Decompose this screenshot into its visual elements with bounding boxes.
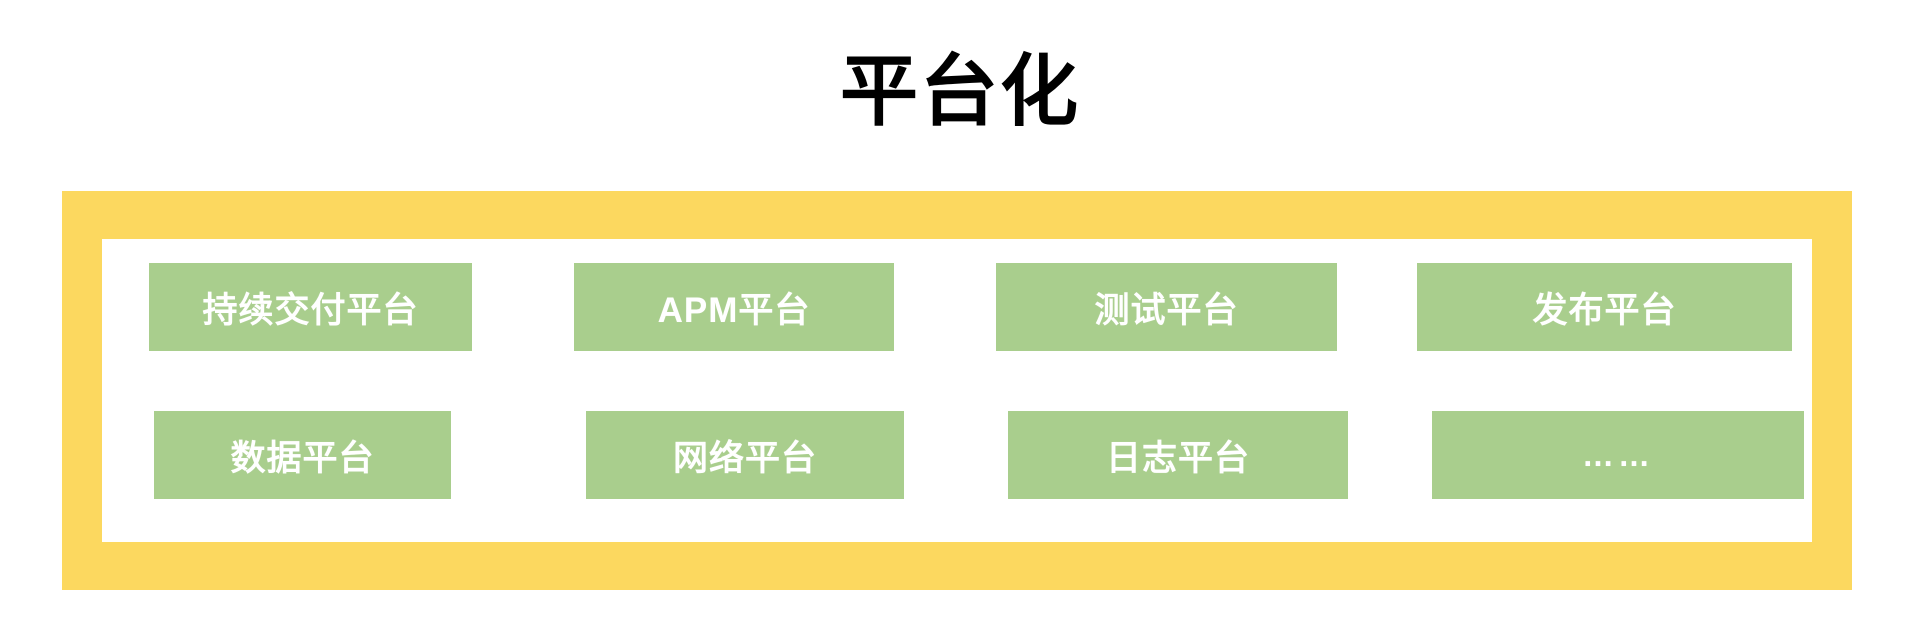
platform-row-1: 持续交付平台 APM平台 测试平台 发布平台 — [102, 263, 1812, 351]
slide-canvas: 平台化 持续交付平台 APM平台 测试平台 发布平台 数据平台 网络平台 日志平… — [0, 0, 1920, 643]
platform-box-testing[interactable]: 测试平台 — [996, 263, 1337, 351]
platform-box-network[interactable]: 网络平台 — [586, 411, 904, 499]
platform-box-apm[interactable]: APM平台 — [574, 263, 894, 351]
platform-box-logging[interactable]: 日志平台 — [1008, 411, 1348, 499]
platform-box-more[interactable]: …… — [1432, 411, 1804, 499]
platform-panel: 持续交付平台 APM平台 测试平台 发布平台 数据平台 网络平台 日志平台 …… — [102, 239, 1812, 542]
platform-row-2: 数据平台 网络平台 日志平台 …… — [102, 411, 1812, 499]
platform-frame: 持续交付平台 APM平台 测试平台 发布平台 数据平台 网络平台 日志平台 …… — [62, 191, 1852, 590]
platform-box-data[interactable]: 数据平台 — [154, 411, 451, 499]
platform-box-release[interactable]: 发布平台 — [1417, 263, 1792, 351]
platform-box-continuous-delivery[interactable]: 持续交付平台 — [149, 263, 472, 351]
page-title: 平台化 — [0, 46, 1920, 136]
